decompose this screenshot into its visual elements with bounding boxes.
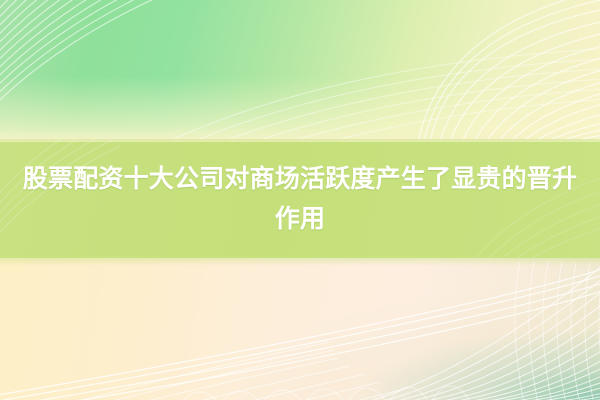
article-title-banner: 股票配资十大公司对商场活跃度产生了显贵的晋升作用 [0, 0, 600, 400]
arc-fan-top-left [0, 0, 204, 142]
arc-ripple-right-corner [515, 262, 600, 400]
arc-ripple-bottom-edge [180, 386, 472, 400]
arc-fan-bottom-right [360, 258, 600, 400]
page-title: 股票配资十大公司对商场活跃度产生了显贵的晋升作用 [20, 159, 580, 239]
arc-fan-bottom-left [0, 342, 400, 400]
title-container: 股票配资十大公司对商场活跃度产生了显贵的晋升作用 [0, 139, 600, 258]
